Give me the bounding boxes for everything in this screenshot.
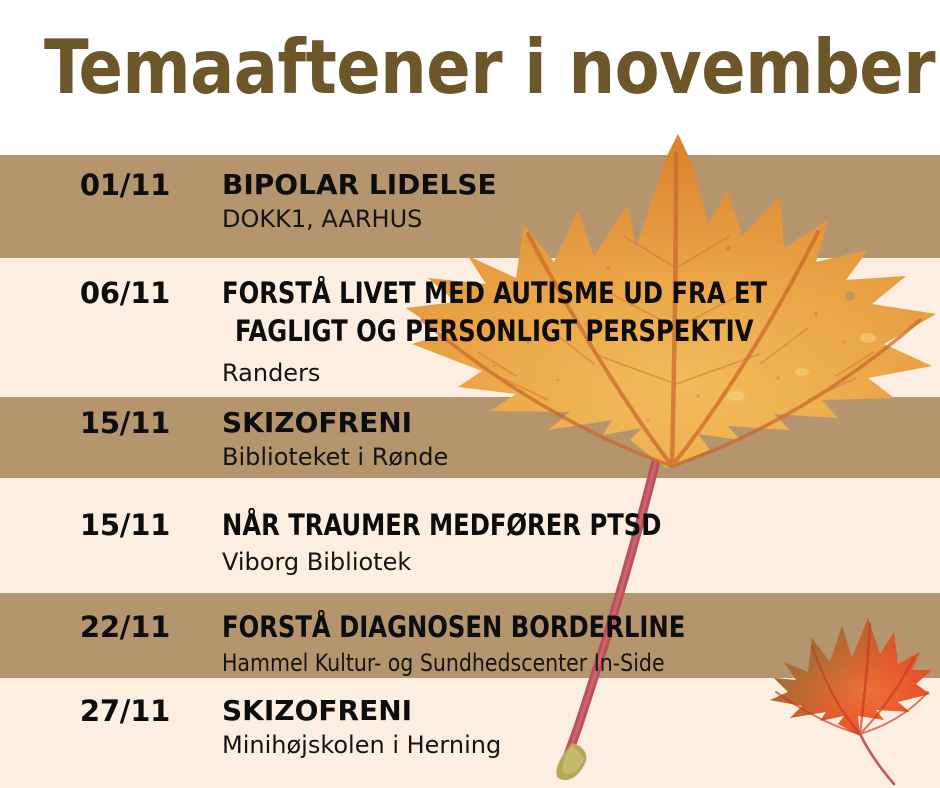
event-venue: Randers (222, 358, 922, 388)
event-date: 15/11 (50, 508, 200, 542)
event-body: BIPOLAR LIDELSE DOKK1, AARHUS (222, 168, 922, 234)
event-date: 22/11 (50, 610, 200, 644)
event-date: 06/11 (50, 276, 200, 310)
event-title: FORSTÅ LIVET MED AUTISME UD FRA ET (222, 276, 873, 310)
event-title: FORSTÅ DIAGNOSEN BORDERLINE (222, 610, 873, 644)
event-title: SKIZOFRENI (222, 406, 922, 440)
event-title-line-2: FAGLIGT OG PERSONLIGT PERSPEKTIV (222, 314, 873, 348)
poster: Temaaftener i november 01/11 BIPOLAR LID… (0, 0, 940, 788)
page-title: Temaaftener i november (44, 26, 878, 108)
event-date: 01/11 (50, 168, 200, 202)
event-body: SKIZOFRENI Biblioteket i Rønde (222, 406, 922, 472)
event-title: SKIZOFRENI (222, 694, 922, 728)
event-title: NÅR TRAUMER MEDFØRER PTSD (222, 508, 873, 542)
event-body: SKIZOFRENI Minihøjskolen i Herning (222, 694, 922, 760)
event-body: FORSTÅ DIAGNOSEN BORDERLINE Hammel Kultu… (222, 610, 922, 678)
event-venue: Hammel Kultur- og Sundhedscenter In-Side (222, 648, 887, 678)
event-venue: DOKK1, AARHUS (222, 204, 922, 234)
event-title: BIPOLAR LIDELSE (222, 168, 922, 202)
event-body: NÅR TRAUMER MEDFØRER PTSD Viborg Bibliot… (222, 508, 922, 577)
event-body: FORSTÅ LIVET MED AUTISME UD FRA ET FAGLI… (222, 276, 922, 388)
event-venue: Viborg Bibliotek (222, 547, 922, 577)
event-venue: Minihøjskolen i Herning (222, 730, 922, 760)
title-area: Temaaftener i november (0, 0, 940, 130)
event-date: 27/11 (50, 694, 200, 728)
event-date: 15/11 (50, 406, 200, 440)
event-venue: Biblioteket i Rønde (222, 442, 922, 472)
